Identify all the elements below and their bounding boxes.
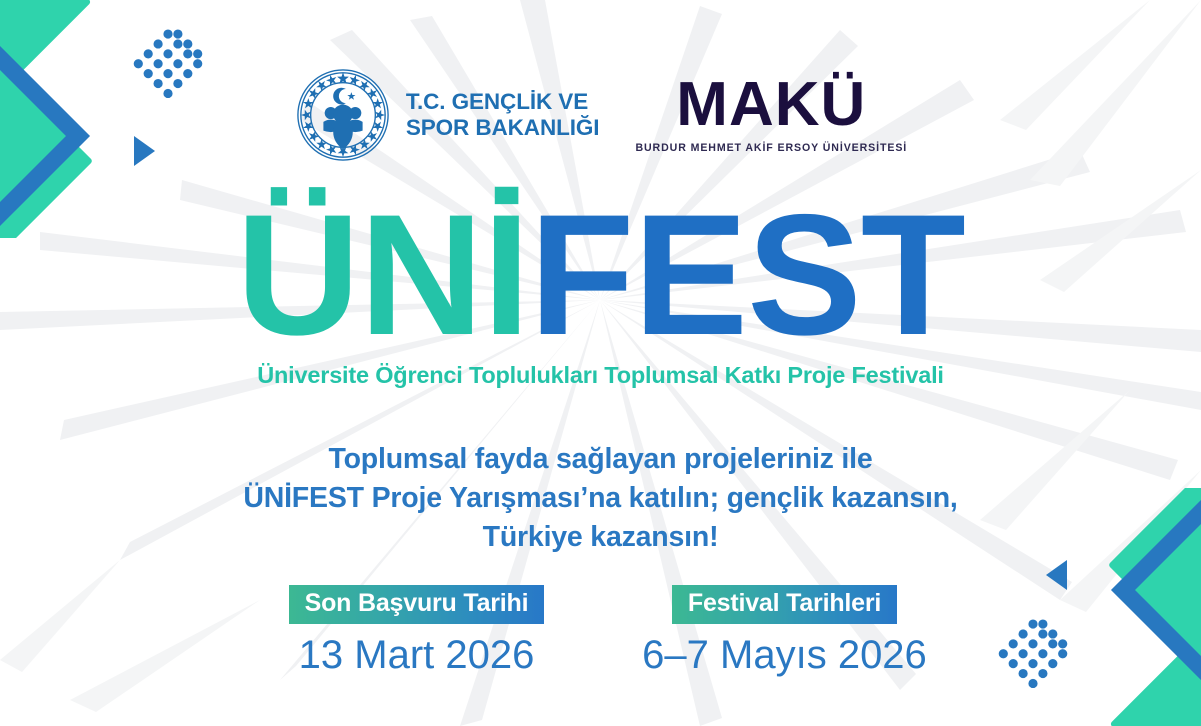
ministry-logo-text: T.C. GENÇLİK VE SPOR BAKANLIĞI — [406, 89, 600, 142]
application-deadline-value: 13 Mart 2026 — [299, 633, 535, 677]
university-logo: MAKÜ BURDUR MEHMET AKİF ERSOY ÜNİVERSİTE… — [635, 76, 907, 154]
turkish-ministry-seal-icon — [294, 66, 392, 164]
body-line-2: ÜNİFEST Proje Yarışması’na katılın; genç… — [0, 479, 1201, 518]
body-line-1: Toplumsal fayda sağlayan projeleriniz il… — [0, 440, 1201, 479]
body-copy: Toplumsal fayda sağlayan projeleriniz il… — [0, 440, 1201, 557]
logo-row: T.C. GENÇLİK VE SPOR BAKANLIĞI MAKÜ BURD… — [0, 66, 1201, 164]
festival-dates-value: 6–7 Mayıs 2026 — [642, 633, 927, 677]
maku-wordmark: MAKÜ — [676, 76, 866, 135]
ministry-logo: T.C. GENÇLİK VE SPOR BAKANLIĞI — [294, 66, 600, 164]
date-card-festival-dates: Festival Tarihleri 6–7 Mayıs 2026 — [635, 585, 935, 677]
unifest-poster: T.C. GENÇLİK VE SPOR BAKANLIĞI MAKÜ BURD… — [0, 0, 1201, 726]
date-cards: Son Başvuru Tarihi 13 Mart 2026 Festival… — [0, 585, 1201, 677]
maku-subtitle: BURDUR MEHMET AKİF ERSOY ÜNİVERSİTESİ — [635, 142, 907, 154]
status-badge-application-deadline: Son Başvuru Tarihi — [289, 585, 545, 624]
title-block: ÜNİFEST Üniversite Öğrenci Toplulukları … — [0, 196, 1201, 389]
title-part-uni: ÜNİ — [236, 179, 529, 371]
title-part-fest: FEST — [529, 179, 965, 371]
status-badge-festival-dates: Festival Tarihleri — [672, 585, 897, 624]
page-title: ÜNİFEST — [0, 196, 1201, 356]
body-line-3: Türkiye kazansın! — [0, 518, 1201, 557]
title-subtitle: Üniversite Öğrenci Toplulukları Toplumsa… — [0, 362, 1201, 389]
date-card-application-deadline: Son Başvuru Tarihi 13 Mart 2026 — [267, 585, 567, 677]
